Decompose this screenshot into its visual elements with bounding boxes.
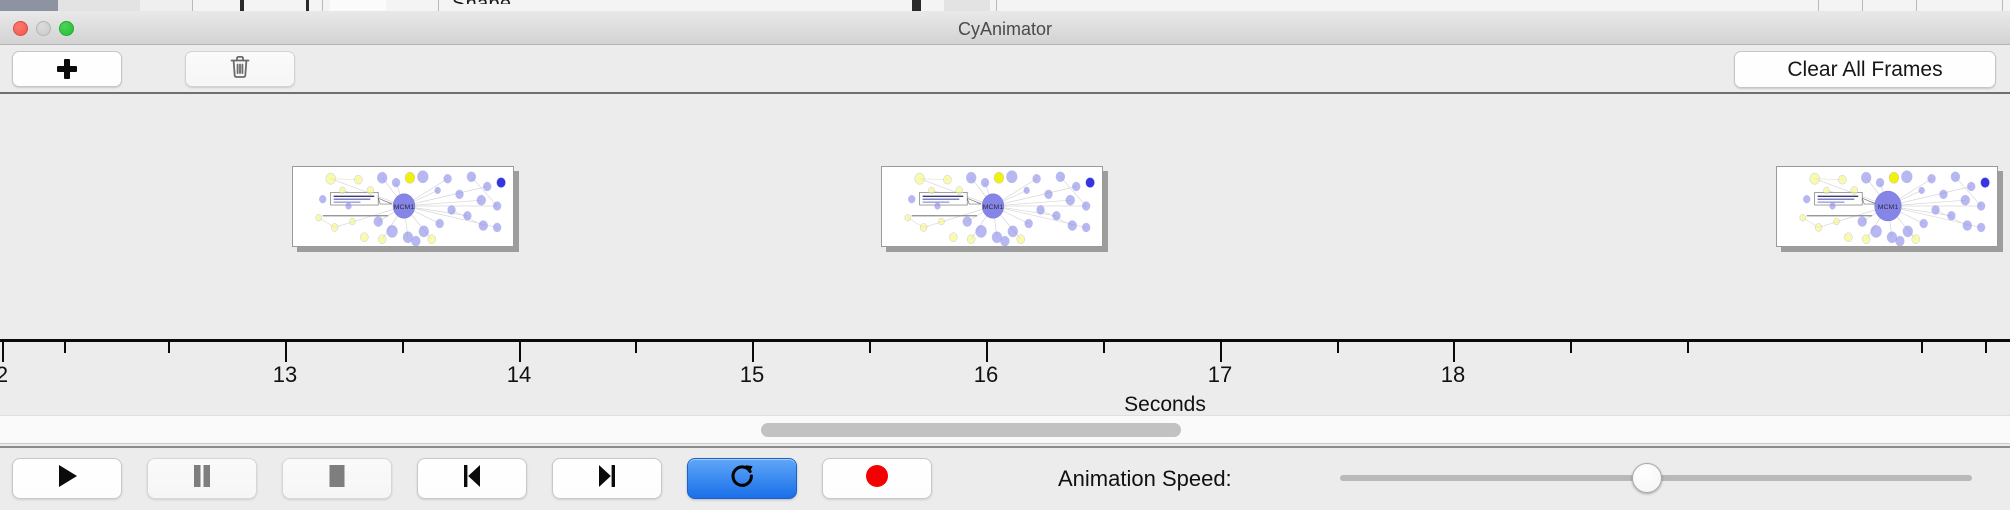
bg-chunk <box>58 0 140 11</box>
axis-tick-label: 2 <box>0 362 8 388</box>
background-window-strip: Shape <box>0 0 2010 11</box>
axis-tick-minor <box>168 342 170 353</box>
bg-divider <box>2002 0 2003 11</box>
svg-text:MCM1: MCM1 <box>983 204 1004 211</box>
axis-tick-major <box>986 342 988 362</box>
skip-back-icon <box>460 463 484 494</box>
bg-chunk <box>944 0 990 11</box>
plus-icon <box>56 58 78 80</box>
trash-icon <box>228 54 252 85</box>
bg-divider <box>322 0 323 11</box>
axis-tick-major <box>1220 342 1222 362</box>
clear-all-frames-label: Clear All Frames <box>1787 58 1942 82</box>
axis-tick-major <box>752 342 754 362</box>
bg-chunk <box>140 0 192 11</box>
animation-speed-slider[interactable] <box>1340 458 1972 498</box>
axis-tick-major <box>1453 342 1455 362</box>
axis-tick-label: 17 <box>1208 362 1232 388</box>
svg-text:MCM1: MCM1 <box>394 204 415 211</box>
timeline-scrollbar[interactable] <box>0 415 2010 444</box>
axis-tick-minor <box>1103 342 1105 353</box>
stop-button[interactable] <box>282 458 392 499</box>
axis-tick-major <box>2 342 4 362</box>
bg-chunk <box>0 0 58 11</box>
delete-frame-button[interactable] <box>185 51 295 87</box>
axis-tick-label: 14 <box>507 362 531 388</box>
bg-divider <box>1916 0 1917 11</box>
play-icon <box>55 463 79 494</box>
axis-tick-label: 15 <box>740 362 764 388</box>
svg-text:MCM1: MCM1 <box>1878 204 1899 211</box>
axis-tick-minor <box>869 342 871 353</box>
bg-chunk <box>306 0 309 11</box>
bg-chunk <box>330 0 386 11</box>
stop-icon <box>326 464 348 493</box>
bg-chunk <box>912 0 921 11</box>
loop-button[interactable] <box>687 458 797 499</box>
toolbar: Clear All Frames <box>0 45 2010 94</box>
titlebar[interactable]: CyAnimator <box>0 11 2010 45</box>
animation-speed-thumb[interactable] <box>1632 463 1662 493</box>
timeline-axis <box>0 339 2010 342</box>
skip-forward-icon <box>595 463 619 494</box>
animation-speed-label: Animation Speed: <box>1058 466 1232 492</box>
frame-thumbnail[interactable]: MCM1 <box>292 166 514 247</box>
axis-tick-minor <box>635 342 637 353</box>
axis-tick-minor <box>402 342 404 353</box>
bg-chunk <box>240 0 244 11</box>
axis-tick-label: 13 <box>273 362 297 388</box>
pause-icon <box>191 464 213 493</box>
axis-tick-label: 16 <box>974 362 998 388</box>
add-frame-button[interactable] <box>12 51 122 87</box>
cyanimator-window: Shape CyAnimator <box>0 0 2010 510</box>
frame-thumbnail[interactable]: MCM1 <box>1776 166 1998 247</box>
playback-controls: Animation Speed: <box>0 446 2010 510</box>
record-icon <box>864 463 890 494</box>
bg-window-label: Shape <box>452 0 572 4</box>
bg-divider <box>1862 0 1863 11</box>
axis-tick-minor <box>1570 342 1572 353</box>
frame-thumbnail[interactable]: MCM1 <box>881 166 1103 247</box>
axis-tick-label: 18 <box>1441 362 1465 388</box>
clear-all-frames-button[interactable]: Clear All Frames <box>1734 51 1996 88</box>
axis-tick-major <box>285 342 287 362</box>
record-button[interactable] <box>822 458 932 499</box>
axis-tick-minor <box>1687 342 1689 353</box>
timeline-panel[interactable]: MCM1 MCM1 MCM1 2131415161718 Seconds <box>0 96 2010 415</box>
axis-tick-minor <box>1985 342 1987 353</box>
axis-title: Seconds <box>1124 393 1206 415</box>
bg-divider <box>1818 0 1819 11</box>
loop-icon <box>728 462 756 495</box>
previous-frame-button[interactable] <box>417 458 527 499</box>
axis-tick-minor <box>64 342 66 353</box>
window-title: CyAnimator <box>0 19 2010 40</box>
bg-divider <box>192 0 193 11</box>
axis-tick-minor <box>1921 342 1923 353</box>
axis-tick-major <box>519 342 521 362</box>
bg-divider <box>996 0 997 11</box>
next-frame-button[interactable] <box>552 458 662 499</box>
axis-tick-minor <box>1337 342 1339 353</box>
pause-button[interactable] <box>147 458 257 499</box>
timeline-scrollbar-thumb[interactable] <box>761 423 1181 437</box>
bg-divider <box>438 0 439 11</box>
play-button[interactable] <box>12 458 122 499</box>
